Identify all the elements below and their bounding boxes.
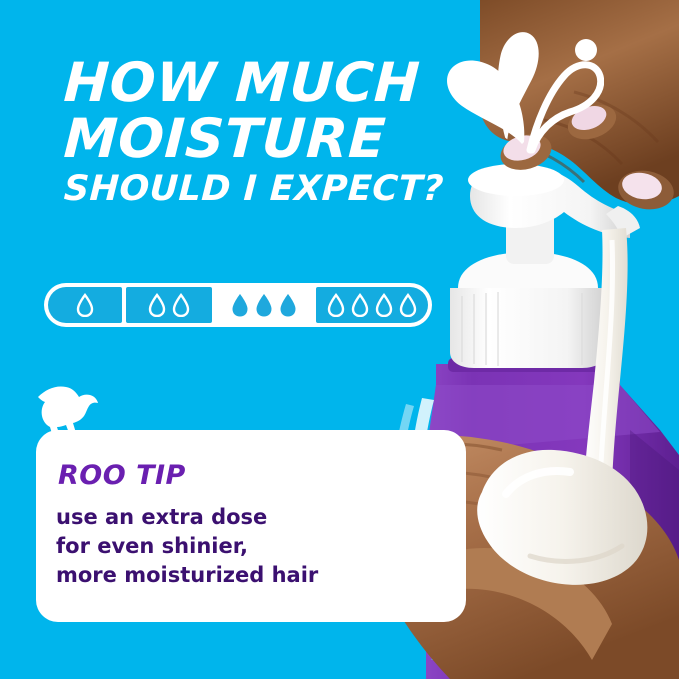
droplet-icon <box>172 293 190 317</box>
moisture-level-meter <box>44 283 432 327</box>
meter-segment-3-active[interactable] <box>216 287 312 323</box>
droplet-icon <box>231 293 249 317</box>
droplet-icon <box>375 293 393 317</box>
droplet-icon <box>148 293 166 317</box>
meter-segment-2[interactable] <box>126 287 212 323</box>
droplet-icon <box>351 293 369 317</box>
page-title: HOW MUCH MOISTURE SHOULD I EXPECT? <box>64 58 484 206</box>
kangaroo-icon <box>36 383 100 439</box>
droplet-icon <box>399 293 417 317</box>
droplet-icon <box>327 293 345 317</box>
splash-dot <box>575 39 597 61</box>
roo-tip-body: use an extra dose for even shinier, more… <box>56 503 318 590</box>
ad-creative: MOIST <box>0 0 679 679</box>
headline-line-3: SHOULD I EXPECT? <box>63 173 485 205</box>
meter-segment-4[interactable] <box>316 287 428 323</box>
droplet-icon <box>255 293 273 317</box>
droplet-icon <box>76 293 94 317</box>
headline-line-2: MOISTURE <box>63 114 486 164</box>
droplet-icon <box>279 293 297 317</box>
roo-tip-title: ROO TIP <box>58 460 186 491</box>
headline-line-1: HOW MUCH <box>63 58 486 108</box>
meter-segment-1[interactable] <box>48 287 122 323</box>
splash-petal-outline <box>530 65 601 150</box>
